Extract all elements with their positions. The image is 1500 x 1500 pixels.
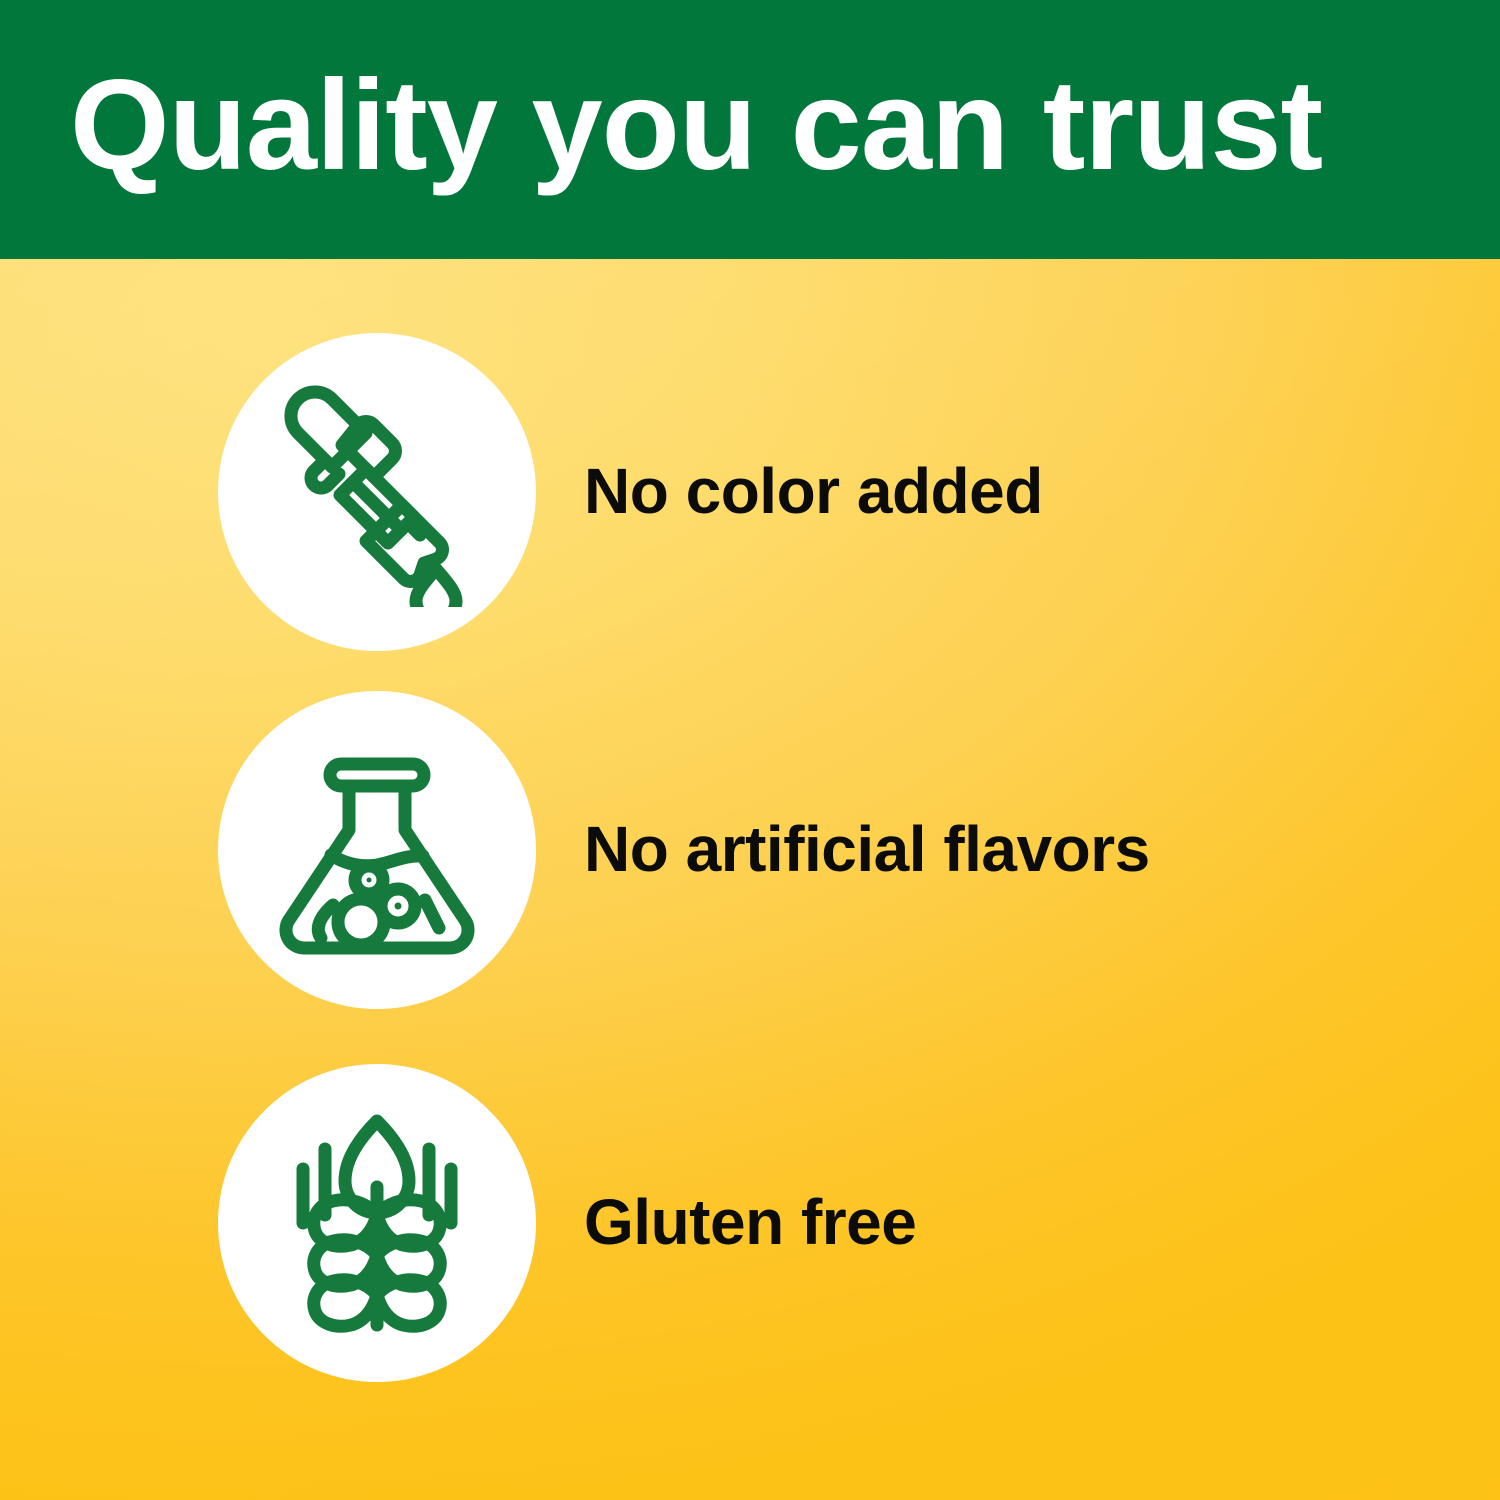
quality-banner: Quality you can trust: [0, 0, 1500, 1500]
feature-label: Gluten free: [584, 1189, 916, 1256]
feature-icon-badge: [218, 1064, 536, 1382]
feature-row: No color added: [0, 333, 1500, 651]
feature-label: No artificial flavors: [584, 816, 1150, 883]
banner-header: Quality you can trust: [0, 0, 1500, 259]
flask-icon: [265, 738, 489, 962]
wheat-icon: [263, 1103, 491, 1343]
feature-list: No color added: [0, 259, 1500, 1500]
page-title: Quality you can trust: [70, 62, 1322, 190]
feature-row: Gluten free: [0, 1064, 1500, 1382]
feature-icon-badge: [218, 333, 536, 651]
feature-icon-badge: [218, 691, 536, 1009]
feature-row: No artificial flavors: [0, 691, 1500, 1009]
dropper-icon: [262, 377, 492, 607]
feature-label: No color added: [584, 458, 1043, 525]
